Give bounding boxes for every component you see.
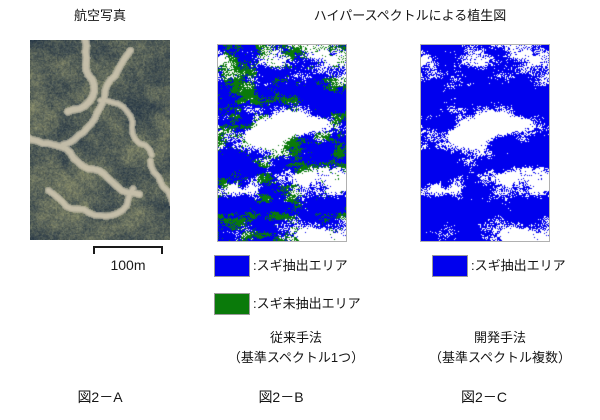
legend-label-extracted: :スギ抽出エリア <box>471 258 566 274</box>
vegetation-map-developed <box>420 44 550 242</box>
method-subtitle-conventional: （基準スペクトル1つ） <box>196 348 396 368</box>
figure-label-c: 図2－C <box>404 388 564 406</box>
legend-swatch-blue <box>432 255 468 277</box>
vegetation-map-conventional <box>217 44 347 242</box>
scale-bar-tick-right <box>161 246 163 254</box>
aerial-photo-canvas <box>30 40 170 240</box>
scale-bar-rule <box>93 246 163 248</box>
legend-item-unextracted-b: :スギ未抽出エリア <box>214 293 361 315</box>
legend-label-extracted: :スギ抽出エリア <box>253 258 348 274</box>
method-title-developed: 開発手法 <box>400 328 600 348</box>
title-aerial-photo: 航空写真 <box>20 8 180 24</box>
legend-label-unextracted: :スギ未抽出エリア <box>253 296 361 312</box>
legend-swatch-green <box>214 293 250 315</box>
method-subtitle-developed: （基準スペクトル複数） <box>400 348 600 368</box>
scale-bar-label: 100m <box>88 256 168 274</box>
method-caption-conventional: 従来手法 （基準スペクトル1つ） <box>196 328 396 368</box>
scale-bar-tick-left <box>93 246 95 254</box>
title-hyperspectral-vegetation-map: ハイパースペクトルによる植生図 <box>240 8 580 24</box>
scale-bar-line <box>93 246 163 254</box>
figure-label-a: 図2－A <box>20 388 180 406</box>
aerial-photo-image <box>30 40 170 240</box>
vegetation-map-developed-canvas <box>421 45 549 241</box>
method-caption-developed: 開発手法 （基準スペクトル複数） <box>400 328 600 368</box>
figure-label-b: 図2－B <box>201 388 361 406</box>
vegetation-map-conventional-canvas <box>218 45 346 241</box>
legend-item-extracted-c: :スギ抽出エリア <box>432 255 566 277</box>
legend-swatch-blue <box>214 255 250 277</box>
scale-bar: 100m <box>88 246 168 274</box>
legend-item-extracted-b: :スギ抽出エリア <box>214 255 348 277</box>
method-title-conventional: 従来手法 <box>196 328 396 348</box>
